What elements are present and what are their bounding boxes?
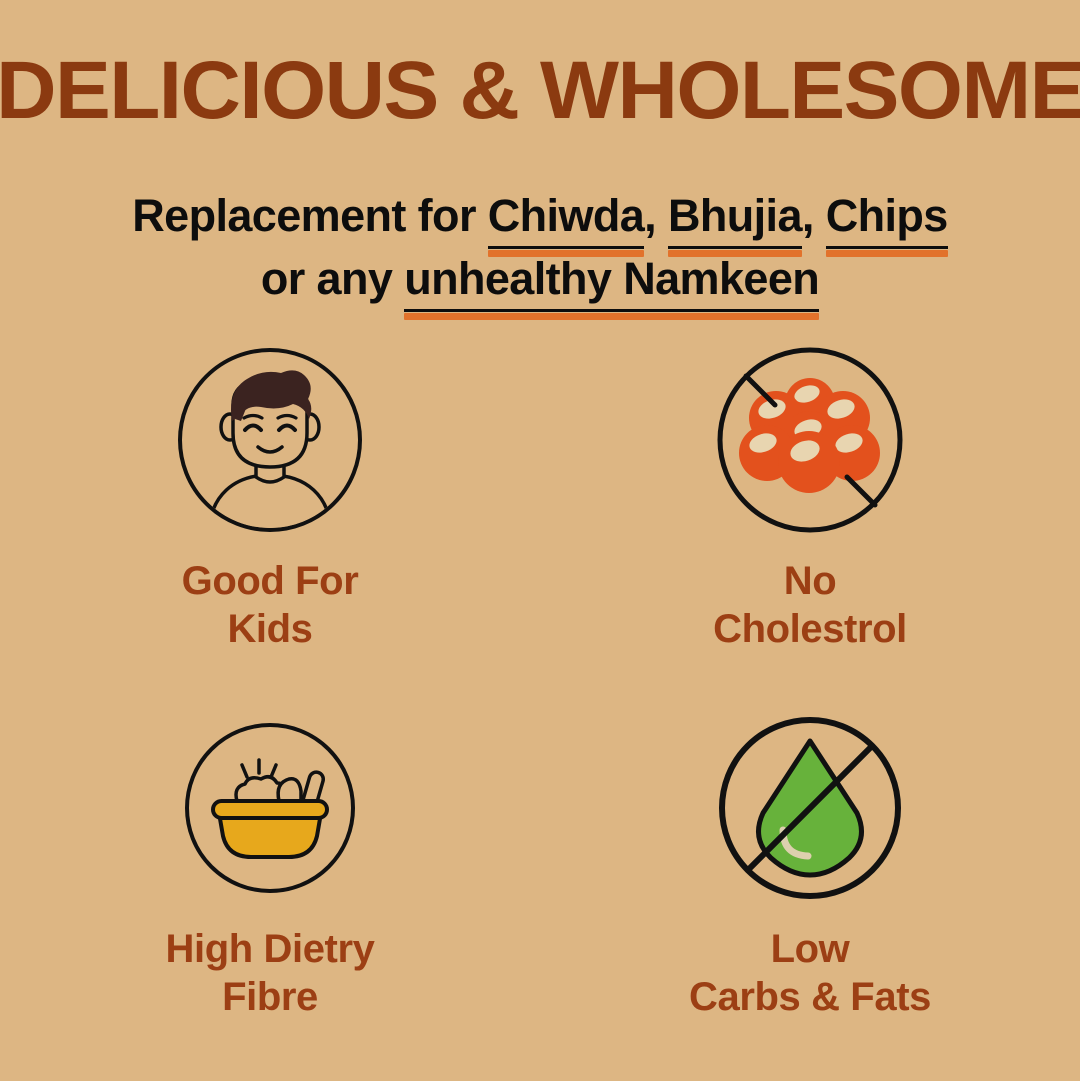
feature-label: High Dietry Fibre [166, 925, 375, 1021]
subtitle: Replacement for Chiwda, Bhujia, Chips or… [0, 186, 1080, 312]
bowl-of-food-icon [175, 713, 365, 903]
feature-low-carbs-fats: Low Carbs & Fats [600, 713, 1020, 1081]
no-oil-droplet-icon [715, 713, 905, 903]
subtitle-prefix: Replacement for [132, 190, 488, 241]
subtitle-prefix-2: or any [261, 253, 404, 304]
no-cholesterol-globules-icon [715, 345, 905, 535]
subtitle-term-bhujia: Bhujia [668, 186, 802, 249]
subtitle-sep-2: , [802, 190, 826, 241]
feature-label: No Cholestrol [713, 557, 907, 653]
feature-good-for-kids: Good For Kids [60, 345, 480, 713]
feature-grid: Good For Kids [0, 345, 1080, 1081]
subtitle-line-1: Replacement for Chiwda, Bhujia, Chips [0, 186, 1080, 249]
feature-no-cholestrol: No Cholestrol [600, 345, 1020, 713]
page-title: DELICIOUS & WHOLESOME [0, 48, 1080, 134]
subtitle-sep-1: , [644, 190, 668, 241]
feature-label: Good For Kids [182, 557, 359, 653]
subtitle-term-chiwda: Chiwda [488, 186, 644, 249]
feature-label: Low Carbs & Fats [689, 925, 931, 1021]
feature-high-dietry-fibre: High Dietry Fibre [60, 713, 480, 1081]
subtitle-term-unhealthy-namkeen: unhealthy Namkeen [404, 249, 819, 312]
promo-poster: DELICIOUS & WHOLESOME Replacement for Ch… [0, 0, 1080, 1080]
kid-face-icon [175, 345, 365, 535]
subtitle-line-2: or any unhealthy Namkeen [0, 249, 1080, 312]
subtitle-term-chips: Chips [826, 186, 948, 249]
